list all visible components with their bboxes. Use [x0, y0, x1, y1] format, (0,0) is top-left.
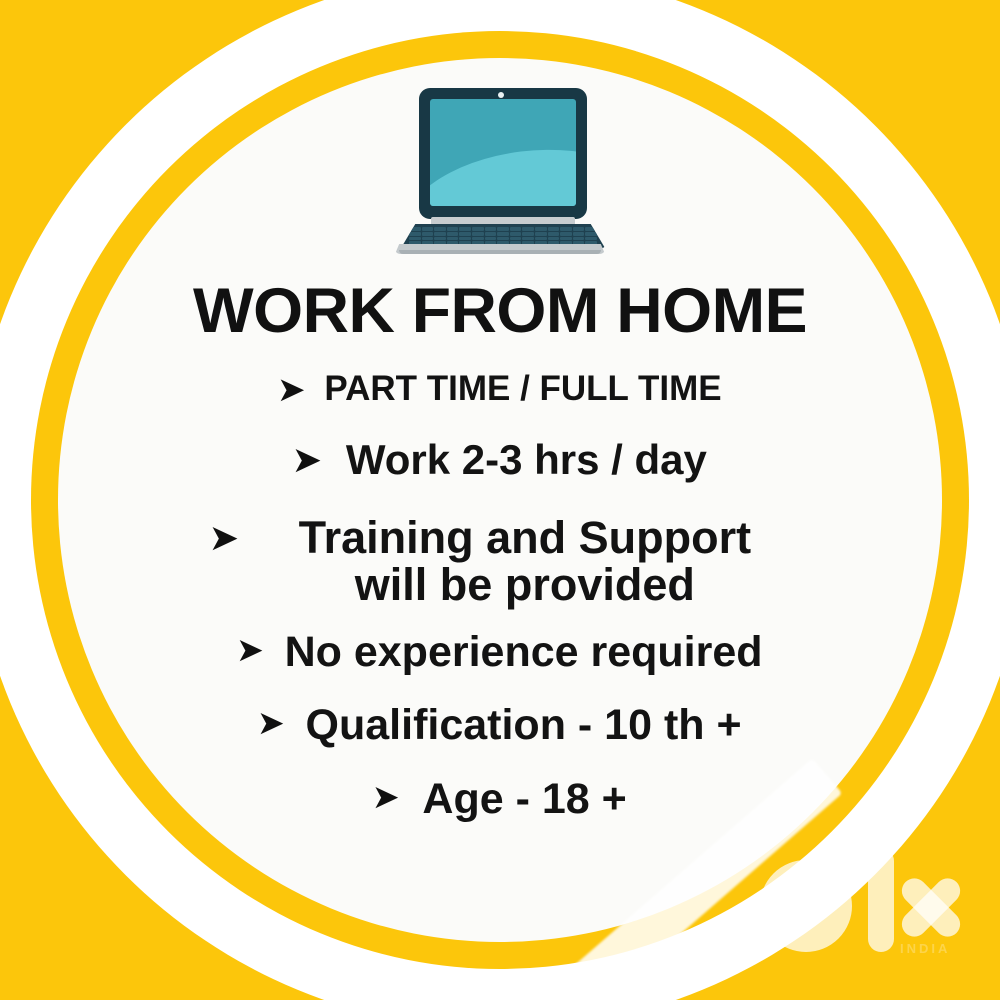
laptop-keys: [409, 227, 597, 245]
page-title: WORK FROM HOME: [193, 280, 807, 343]
list-item-label: No experience required: [285, 630, 763, 675]
list-item-label: Training and Support will be provided: [260, 514, 790, 609]
list-item-label: Age - 18 +: [422, 777, 626, 822]
laptop-screen: [430, 99, 576, 206]
list-item: ➤ Qualification - 10 th +: [258, 703, 741, 748]
laptop-base-shadow: [399, 250, 601, 254]
poster-content: WORK FROM HOME ➤ PART TIME / FULL TIME ➤…: [0, 0, 1000, 1000]
arrow-bullet-icon: ➤: [278, 374, 304, 405]
arrow-bullet-icon: ➤: [258, 709, 283, 739]
laptop-icon: [393, 88, 607, 254]
list-item-label: PART TIME / FULL TIME: [324, 371, 721, 408]
arrow-bullet-icon: ➤: [373, 783, 398, 813]
list-item-label: Work 2-3 hrs / day: [346, 438, 707, 482]
list-item: ➤ No experience required: [237, 630, 762, 675]
benefits-list: ➤ PART TIME / FULL TIME ➤ Work 2-3 hrs /…: [0, 367, 1000, 822]
list-item: ➤ Training and Support will be provided: [210, 514, 790, 609]
screen-highlight-swoosh: [430, 136, 576, 206]
list-item-label: Qualification - 10 th +: [306, 703, 742, 748]
arrow-bullet-icon: ➤: [293, 443, 321, 476]
work-from-home-poster: WORK FROM HOME ➤ PART TIME / FULL TIME ➤…: [0, 0, 1000, 1000]
arrow-bullet-icon: ➤: [237, 636, 262, 666]
list-item: ➤ Work 2-3 hrs / day: [293, 438, 707, 482]
arrow-bullet-icon: ➤: [210, 521, 238, 554]
list-item: ➤ Age - 18 +: [373, 777, 626, 822]
list-item: ➤ PART TIME / FULL TIME: [278, 371, 721, 408]
laptop-webcam-icon: [498, 92, 504, 98]
